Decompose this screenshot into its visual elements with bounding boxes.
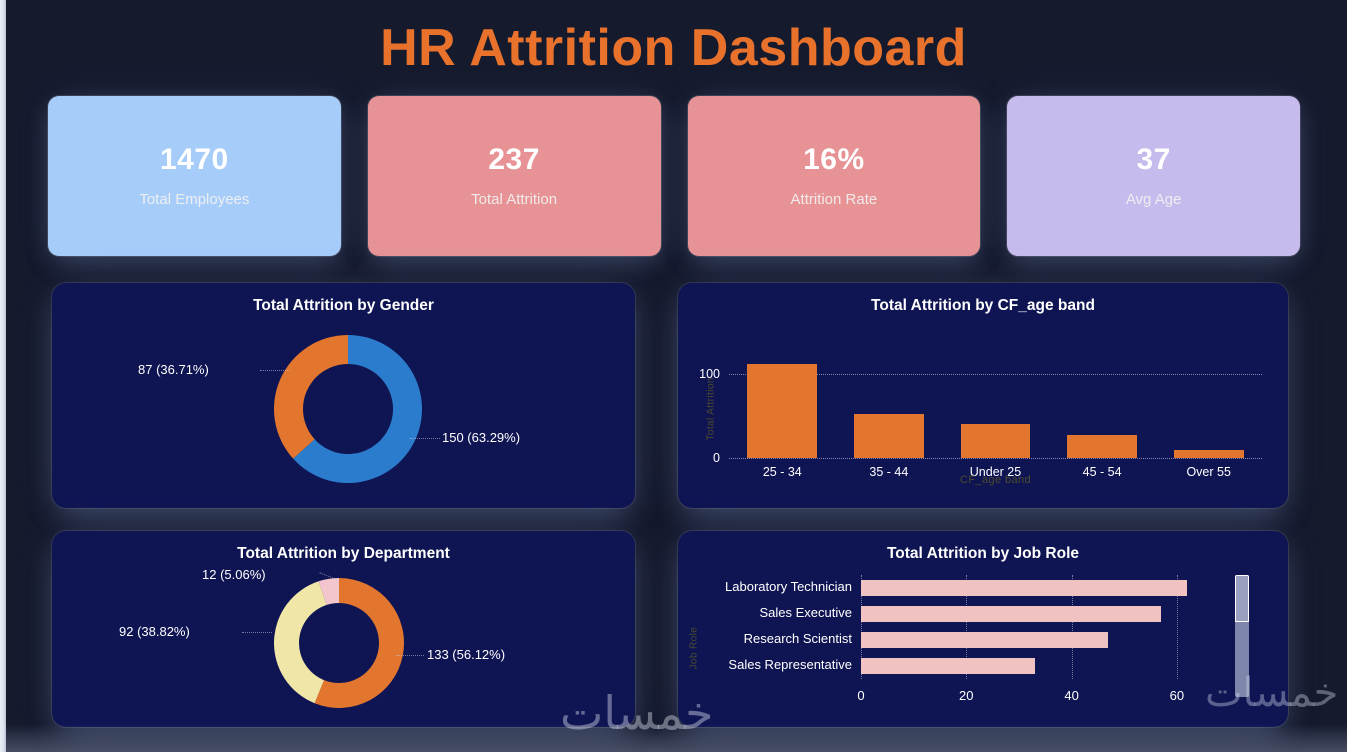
bar[interactable] (747, 364, 817, 459)
kpi-label: Total Attrition (471, 191, 557, 209)
kpi-value: 37 (1136, 143, 1170, 177)
kpi-label: Attrition Rate (791, 191, 878, 209)
gridline (729, 458, 1262, 459)
y-axis-tick-label: Research Scientist (744, 631, 861, 647)
donut-chart-department[interactable] (274, 578, 404, 708)
y-axis-tick-label: Sales Representative (728, 657, 861, 673)
donut-gender-svg (274, 335, 422, 483)
y-axis-tick-label: 0 (713, 451, 729, 465)
donut-department-svg (274, 578, 404, 708)
bar-row: Laboratory Technician (861, 580, 1219, 596)
bar-row: Sales Executive (861, 606, 1219, 622)
kpi-card-row: 1470 Total Employees 237 Total Attrition… (48, 96, 1300, 256)
donut-slice-label: 92 (38.82%) (119, 624, 190, 640)
kpi-card-total-attrition[interactable]: 237 Total Attrition (368, 96, 661, 256)
bar[interactable] (961, 424, 1031, 458)
bar-chart-plot-area[interactable]: 010025 - 3435 - 44Under 2545 - 54Over 55 (729, 350, 1262, 458)
donut-slice-label: 150 (63.29%) (442, 430, 520, 446)
chart-vertical-scrollbar[interactable] (1235, 575, 1249, 697)
kpi-card-attrition-rate[interactable]: 16% Attrition Rate (688, 96, 981, 256)
leader-line (260, 370, 290, 371)
chart-card-attrition-by-gender[interactable]: Total Attrition by Gender 87 (36.71%) 15… (52, 283, 635, 508)
kpi-value: 1470 (160, 143, 229, 177)
x-axis-tick-label: 60 (1152, 688, 1202, 704)
page-title: HR Attrition Dashboard (0, 14, 1347, 82)
dashboard-page: HR Attrition Dashboard 1470 Total Employ… (0, 0, 1347, 752)
donut-chart-gender[interactable] (274, 335, 422, 483)
bar[interactable] (1067, 435, 1137, 458)
donut-slice[interactable] (274, 335, 348, 459)
chart-card-attrition-by-department[interactable]: Total Attrition by Department 12 (5.06%)… (52, 531, 635, 727)
x-axis-tick-label: 40 (1047, 688, 1097, 704)
bar[interactable] (861, 580, 1187, 596)
kpi-card-total-employees[interactable]: 1470 Total Employees (48, 96, 341, 256)
y-axis-tick-label: 100 (699, 367, 729, 381)
donut-slice[interactable] (274, 581, 326, 703)
scrollbar-thumb[interactable] (1235, 575, 1249, 622)
page-bottom-shadow (0, 724, 1347, 752)
y-axis-tick-label: Sales Executive (760, 605, 862, 621)
bar-row: Research Scientist (861, 632, 1219, 648)
bar[interactable] (861, 606, 1161, 622)
bar[interactable] (854, 414, 924, 458)
donut-slice-label: 133 (56.12%) (427, 647, 505, 663)
kpi-label: Total Employees (139, 191, 249, 209)
chart-title: Total Attrition by CF_age band (678, 296, 1288, 316)
chart-card-attrition-by-age-band[interactable]: Total Attrition by CF_age band Total Att… (678, 283, 1288, 508)
x-axis-tick-label: 0 (836, 688, 886, 704)
bar[interactable] (861, 658, 1035, 674)
kpi-value: 16% (803, 143, 865, 177)
donut-slice-label: 87 (36.71%) (138, 362, 209, 378)
bar-row: Sales Representative (861, 658, 1219, 674)
leader-line (396, 655, 424, 656)
x-axis-tick-label: 20 (941, 688, 991, 704)
chart-title: Total Attrition by Department (52, 544, 635, 564)
y-axis-tick-label: Laboratory Technician (725, 579, 861, 595)
leader-line (410, 438, 440, 439)
page-left-edge-strip (0, 0, 6, 752)
chart-card-attrition-by-job-role[interactable]: Total Attrition by Job Role Job Role 020… (678, 531, 1288, 727)
chart-title: Total Attrition by Gender (52, 296, 635, 316)
leader-line (242, 632, 272, 633)
y-axis-title: Job Role (689, 610, 700, 670)
kpi-label: Avg Age (1126, 191, 1182, 209)
kpi-value: 237 (488, 143, 540, 177)
bar[interactable] (1174, 450, 1244, 458)
donut-slice-label: 12 (5.06%) (202, 567, 266, 583)
bar[interactable] (861, 632, 1108, 648)
bar-chart-plot-area[interactable]: 0204060Laboratory TechnicianSales Execut… (861, 575, 1219, 679)
x-axis-title: CF_age band (729, 474, 1262, 486)
chart-title: Total Attrition by Job Role (678, 544, 1288, 564)
kpi-card-avg-age[interactable]: 37 Avg Age (1007, 96, 1300, 256)
